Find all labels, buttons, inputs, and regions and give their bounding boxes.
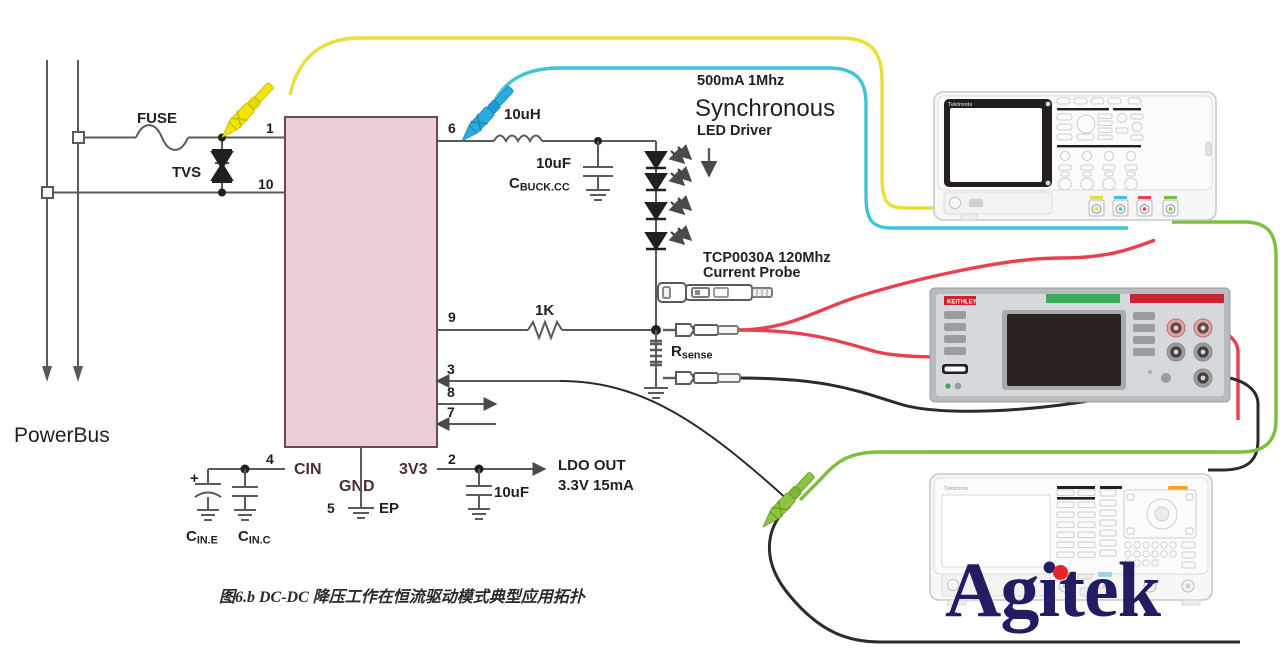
sense-resistor-symbol (650, 330, 662, 388)
inductor-symbol (494, 136, 542, 142)
probe-yellow (217, 80, 276, 142)
ic-body (285, 117, 437, 447)
watermark-text: Agitek (945, 551, 1160, 629)
cin-c-cap-symbol (232, 469, 258, 520)
ldo-cap-symbol (466, 469, 492, 519)
resistor-1k-symbol (528, 322, 562, 338)
buck-cap-symbol (583, 141, 613, 200)
dmm-lead-lower (663, 372, 740, 384)
junction-ac2 (218, 189, 226, 197)
sense-ground (644, 388, 668, 398)
probe-cyan (457, 84, 516, 146)
current-probe-clamp (658, 283, 772, 302)
tvs-diode-symbol (212, 138, 232, 193)
power-bus-rails (0, 60, 83, 382)
ic-ground (348, 447, 374, 518)
wire-en-to-generator (560, 381, 790, 502)
fuse-symbol (136, 125, 188, 150)
terminal-lower (42, 187, 53, 198)
terminal-upper (73, 132, 84, 143)
cin-e-cap-symbol (195, 469, 221, 520)
probe-green (758, 470, 817, 532)
diagram-canvas: Tektronix (0, 0, 1280, 650)
watermark-dot (1053, 565, 1068, 580)
dmm-lead-upper (663, 324, 738, 336)
